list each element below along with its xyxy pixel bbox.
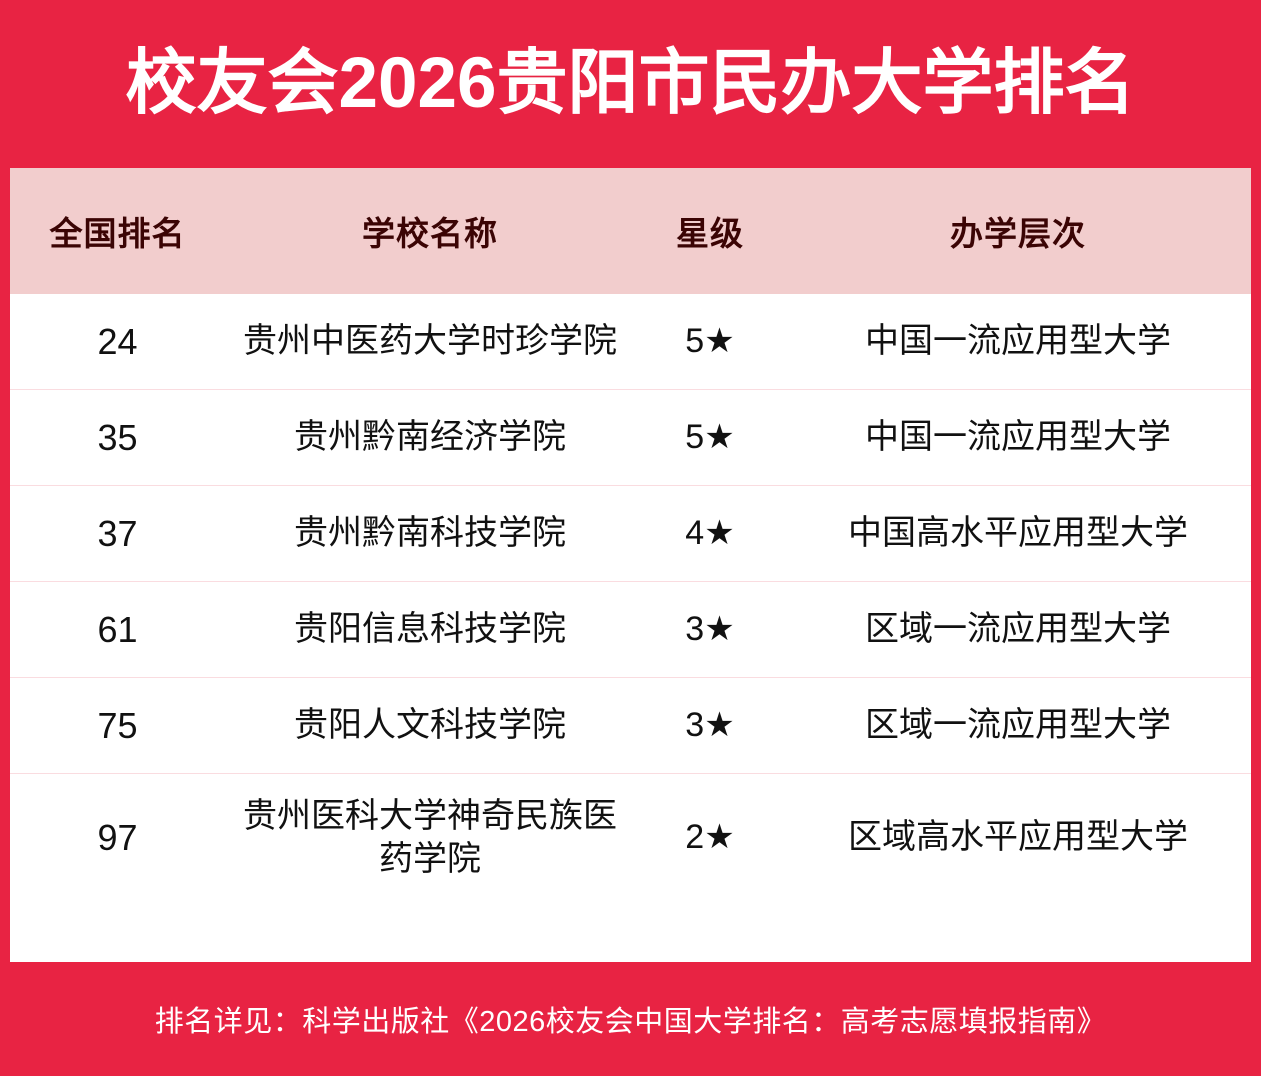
cell-star: 5★	[635, 320, 785, 363]
cell-star: 3★	[635, 704, 785, 747]
cell-rank: 35	[10, 415, 225, 460]
cell-star: 3★	[635, 608, 785, 651]
cell-rank: 97	[10, 815, 225, 860]
cell-level: 中国高水平应用型大学	[785, 512, 1251, 555]
column-header-level: 办学层次	[785, 207, 1251, 255]
ranking-table-card: 全国排名 学校名称 星级 办学层次 24 贵州中医药大学时珍学院 5★ 中国一流…	[10, 168, 1251, 962]
cell-level: 区域一流应用型大学	[785, 704, 1251, 747]
cell-star: 2★	[635, 816, 785, 859]
cell-rank: 37	[10, 511, 225, 556]
table-header-row: 全国排名 学校名称 星级 办学层次	[10, 168, 1251, 294]
cell-level: 中国一流应用型大学	[785, 416, 1251, 459]
cell-star: 4★	[635, 512, 785, 555]
cell-rank: 24	[10, 319, 225, 364]
cell-school: 贵州黔南科技学院	[225, 512, 635, 555]
column-header-school: 学校名称	[225, 207, 635, 255]
ranking-poster: 校友会2026贵阳市民办大学排名 全国排名 学校名称 星级 办学层次 24 贵州…	[0, 0, 1261, 1076]
column-header-star: 星级	[635, 207, 785, 255]
cell-school: 贵州中医药大学时珍学院	[225, 320, 635, 363]
title-banner: 校友会2026贵阳市民办大学排名	[0, 0, 1261, 168]
table-row: 37 贵州黔南科技学院 4★ 中国高水平应用型大学	[10, 486, 1251, 582]
table-row: 97 贵州医科大学神奇民族医药学院 2★ 区域高水平应用型大学	[10, 774, 1251, 901]
cell-level: 中国一流应用型大学	[785, 320, 1251, 363]
table-row: 61 贵阳信息科技学院 3★ 区域一流应用型大学	[10, 582, 1251, 678]
footer-note: 排名详见：科学出版社《2026校友会中国大学排名：高考志愿填报指南》	[155, 998, 1107, 1040]
table-row: 75 贵阳人文科技学院 3★ 区域一流应用型大学	[10, 678, 1251, 774]
cell-level: 区域高水平应用型大学	[785, 816, 1251, 859]
cell-rank: 61	[10, 607, 225, 652]
page-title: 校友会2026贵阳市民办大学排名	[126, 47, 1136, 122]
cell-school: 贵阳人文科技学院	[225, 704, 635, 747]
cell-school: 贵州黔南经济学院	[225, 416, 635, 459]
cell-school: 贵州医科大学神奇民族医药学院	[225, 795, 635, 880]
table-row: 35 贵州黔南经济学院 5★ 中国一流应用型大学	[10, 390, 1251, 486]
cell-level: 区域一流应用型大学	[785, 608, 1251, 651]
cell-star: 5★	[635, 416, 785, 459]
table-row: 24 贵州中医药大学时珍学院 5★ 中国一流应用型大学	[10, 294, 1251, 390]
footer-note-bar: 排名详见：科学出版社《2026校友会中国大学排名：高考志愿填报指南》	[0, 962, 1261, 1076]
column-header-rank: 全国排名	[10, 207, 225, 255]
cell-school: 贵阳信息科技学院	[225, 608, 635, 651]
table-body: 24 贵州中医药大学时珍学院 5★ 中国一流应用型大学 35 贵州黔南经济学院 …	[10, 294, 1251, 901]
cell-rank: 75	[10, 703, 225, 748]
